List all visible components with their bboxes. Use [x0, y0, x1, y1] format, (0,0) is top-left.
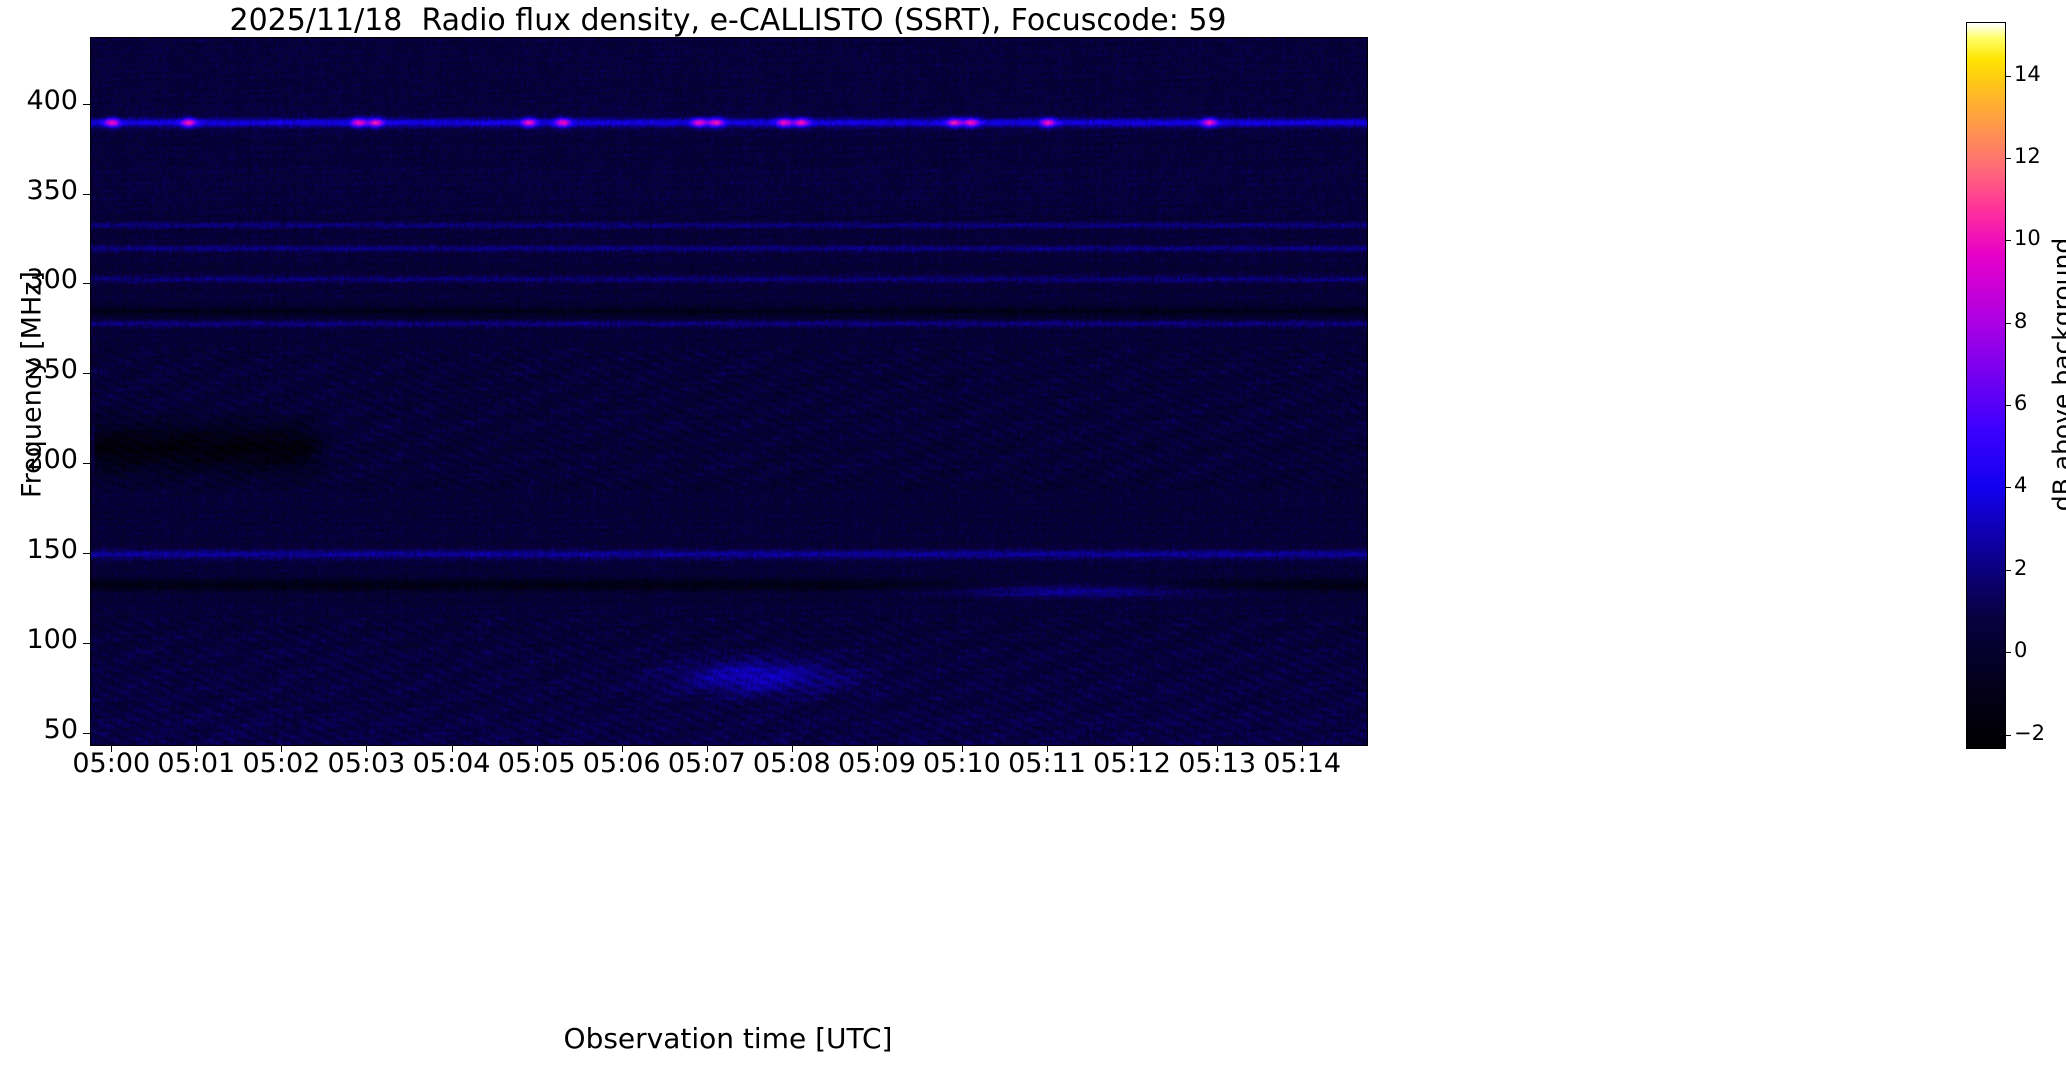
x-axis-label: Observation time [UTC] — [90, 1022, 1366, 1055]
x-tick-mark — [1217, 745, 1218, 752]
x-tick-mark — [366, 745, 367, 752]
x-tick-mark — [962, 745, 963, 752]
colorbar-tick-mark — [2005, 487, 2011, 488]
colorbar-tick-label: −2 — [2014, 721, 2066, 745]
y-tick-label: 250 — [0, 354, 78, 385]
intensity-colorbar[interactable] — [1966, 22, 2006, 749]
x-tick-mark — [1302, 745, 1303, 752]
x-tick-mark — [792, 745, 793, 752]
y-tick-mark — [83, 373, 90, 374]
colorbar-tick-mark — [2005, 570, 2011, 571]
page-title: 2025/11/18 Radio flux density, e-CALLIST… — [90, 4, 1366, 38]
x-tick-mark — [1132, 745, 1133, 752]
x-tick-mark — [281, 745, 282, 752]
y-tick-label: 50 — [0, 714, 78, 745]
spectrogram-plot-area[interactable] — [90, 37, 1368, 746]
colorbar-tick-mark — [2005, 652, 2011, 653]
x-tick-mark — [1047, 745, 1048, 752]
spectrogram-image[interactable] — [91, 38, 1367, 745]
colorbar-tick-mark — [2005, 76, 2011, 77]
y-tick-mark — [83, 463, 90, 464]
x-tick-label: 05:14 — [1222, 748, 1382, 779]
colorbar-axis-label: dB above background — [2048, 135, 2066, 615]
colorbar-tick-mark — [2005, 240, 2011, 241]
colorbar-tick-label: 0 — [2014, 638, 2066, 662]
x-tick-mark — [877, 745, 878, 752]
x-tick-mark — [111, 745, 112, 752]
x-tick-mark — [707, 745, 708, 752]
x-tick-mark — [452, 745, 453, 752]
colorbar-tick-label: 14 — [2014, 62, 2066, 86]
x-tick-mark — [537, 745, 538, 752]
y-tick-mark — [83, 643, 90, 644]
y-tick-label: 150 — [0, 534, 78, 565]
colorbar-tick-mark — [2005, 323, 2011, 324]
y-tick-label: 350 — [0, 175, 78, 206]
y-tick-label: 100 — [0, 624, 78, 655]
y-tick-mark — [83, 553, 90, 554]
colorbar-tick-mark — [2005, 735, 2011, 736]
y-tick-mark — [83, 194, 90, 195]
y-tick-label: 200 — [0, 444, 78, 475]
x-tick-mark — [622, 745, 623, 752]
x-tick-mark — [196, 745, 197, 752]
spectrogram-figure: 2025/11/18 Radio flux density, e-CALLIST… — [0, 0, 2066, 1067]
y-tick-mark — [83, 733, 90, 734]
y-tick-mark — [83, 283, 90, 284]
colorbar-tick-mark — [2005, 405, 2011, 406]
colorbar-gradient — [1967, 23, 2005, 748]
colorbar-tick-mark — [2005, 158, 2011, 159]
y-tick-label: 400 — [0, 85, 78, 116]
y-tick-mark — [83, 104, 90, 105]
y-tick-label: 300 — [0, 264, 78, 295]
